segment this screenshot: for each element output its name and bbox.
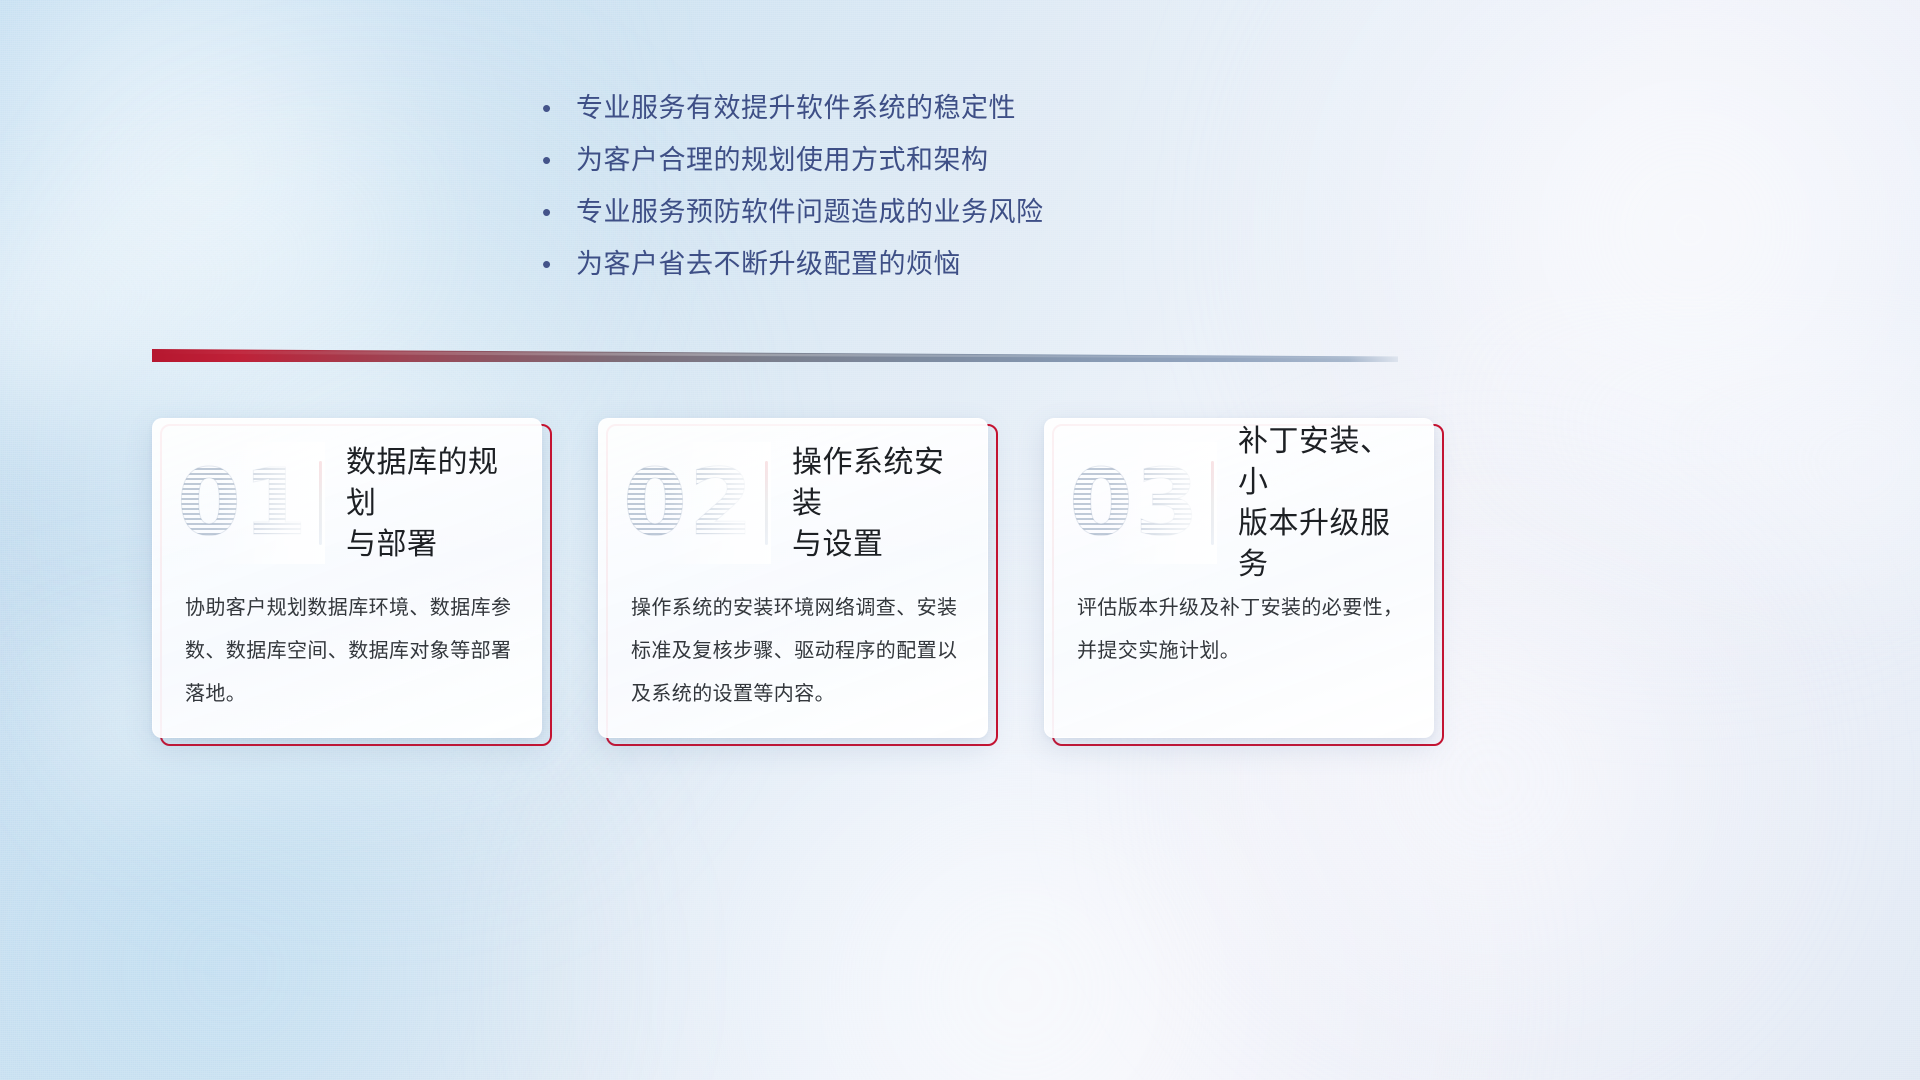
card-body-text: 操作系统的安装环境网络调查、安装标准及复核步骤、驱动程序的配置以及系统的设置等内… (631, 587, 963, 716)
card-header: 03 03 补丁安装、小 版本升级服务 (1045, 439, 1433, 567)
card-number-watermark: 01 01 (167, 448, 319, 558)
bullet-text: 专业服务预防软件问题造成的业务风险 (576, 194, 1044, 230)
list-item: • 为客户合理的规划使用方式和架构 (536, 142, 1436, 194)
card-title: 操作系统安装 与设置 (768, 442, 987, 565)
card-title-line-2: 与设置 (792, 524, 971, 565)
section-divider (152, 349, 1398, 362)
card-body-text: 评估版本升级及补丁安装的必要性，并提交实施计划。 (1077, 587, 1409, 673)
card-number-watermark: 02 02 (613, 448, 765, 558)
bullet-dot-icon: • (536, 90, 576, 126)
list-item: • 专业服务有效提升软件系统的稳定性 (536, 90, 1436, 142)
card-title-line-1: 补丁安装、小 (1238, 421, 1417, 503)
card-number-outline: 02 (613, 448, 765, 558)
card-header: 02 02 操作系统安装 与设置 (599, 439, 987, 567)
bullet-text: 为客户省去不断升级配置的烦恼 (576, 246, 961, 282)
list-item: • 为客户省去不断升级配置的烦恼 (536, 246, 1436, 298)
card-title: 数据库的规划 与部署 (322, 442, 541, 565)
service-card-02[interactable]: 02 02 操作系统安装 与设置 操作系统的安装环境网络调查、安装标准及复核步骤… (598, 418, 990, 742)
card-number-outline: 01 (167, 448, 319, 558)
card-surface: 03 03 补丁安装、小 版本升级服务 评估版本升级及补丁安装的必要性，并提交实… (1044, 418, 1434, 738)
bullet-text: 专业服务有效提升软件系统的稳定性 (576, 90, 1016, 126)
bullet-text: 为客户合理的规划使用方式和架构 (576, 142, 989, 178)
service-card-01[interactable]: 01 01 数据库的规划 与部署 协助客户规划数据库环境、数据库参数、数据库空间… (152, 418, 544, 742)
list-item: • 专业服务预防软件问题造成的业务风险 (536, 194, 1436, 246)
card-title-line-1: 操作系统安装 (792, 442, 971, 524)
card-title-line-1: 数据库的规划 (346, 442, 525, 524)
card-body-text: 协助客户规划数据库环境、数据库参数、数据库空间、数据库对象等部署落地。 (185, 587, 517, 716)
card-surface: 02 02 操作系统安装 与设置 操作系统的安装环境网络调查、安装标准及复核步骤… (598, 418, 988, 738)
card-title-line-2: 版本升级服务 (1238, 503, 1417, 585)
service-card-03[interactable]: 03 03 补丁安装、小 版本升级服务 评估版本升级及补丁安装的必要性，并提交实… (1044, 418, 1436, 742)
bullet-dot-icon: • (536, 142, 576, 178)
benefits-bullet-list: • 专业服务有效提升软件系统的稳定性 • 为客户合理的规划使用方式和架构 • 专… (536, 90, 1436, 298)
bullet-dot-icon: • (536, 194, 576, 230)
card-surface: 01 01 数据库的规划 与部署 协助客户规划数据库环境、数据库参数、数据库空间… (152, 418, 542, 738)
service-cards: 01 01 数据库的规划 与部署 协助客户规划数据库环境、数据库参数、数据库空间… (0, 418, 1920, 748)
card-header: 01 01 数据库的规划 与部署 (153, 439, 541, 567)
bullet-dot-icon: • (536, 246, 576, 282)
card-title-line-2: 与部署 (346, 524, 525, 565)
card-number-outline: 03 (1059, 448, 1211, 558)
card-number-watermark: 03 03 (1059, 448, 1211, 558)
card-title: 补丁安装、小 版本升级服务 (1214, 421, 1433, 585)
